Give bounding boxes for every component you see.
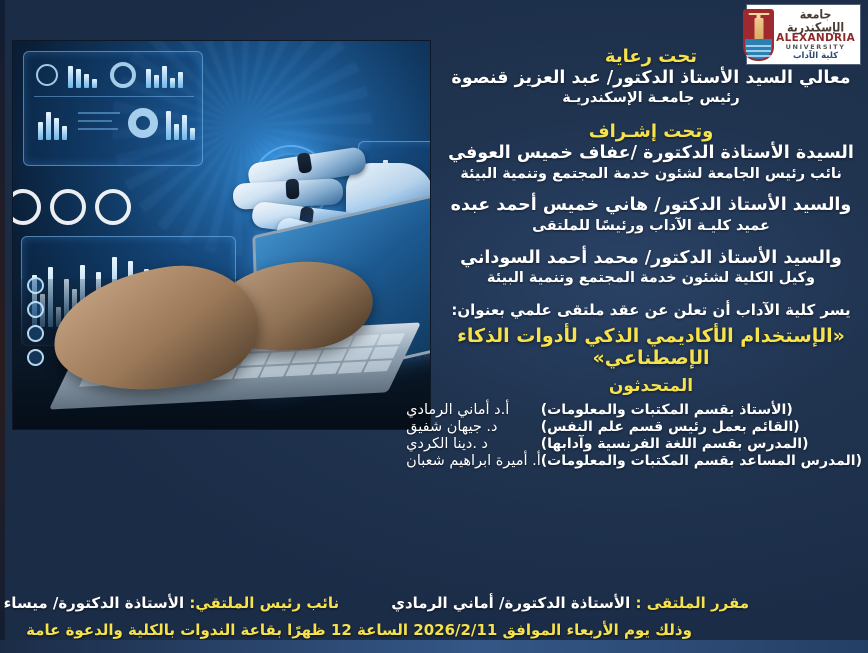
speaker-role: (المدرس بقسم اللغة الفرنسية وآدابها)	[541, 436, 862, 453]
left-edge-strip	[0, 0, 5, 653]
patronage-heading: تحت رعاية	[440, 46, 862, 67]
supervision-heading: وتحت إشـراف	[440, 121, 862, 142]
table-row: (المدرس المساعد بقسم المكتبات والمعلومات…	[406, 453, 862, 470]
supervisor-2-title: عميد كليـة الآداب ورئيسًا للملتقى	[440, 217, 862, 236]
supervisor-3-name: والسيد الأستاذ الدكتور/ محمد أحمد السودا…	[440, 247, 862, 269]
poster-background: جامعة الإسكندرية ALEXANDRIA UNIVERSITY ك…	[0, 0, 868, 653]
rapporteur-label: مقرر الملتقى :	[635, 594, 749, 612]
speakers-heading: المتحدثون	[440, 376, 862, 396]
hud-chip-column	[27, 277, 44, 366]
supervisor-1-name: السيدة الأستاذة الدكتورة /عفاف خميس العو…	[440, 142, 862, 164]
rapporteur-segment: مقرر الملتقى : الأستاذة الدكتورة/ أماني …	[391, 594, 749, 612]
deputy-value: الأستاذة الدكتورة/ ميساء محروس	[0, 594, 184, 612]
hud-panel-top-left	[23, 51, 203, 166]
table-row: (القائم بعمل رئيس قسم علم النفس) د. جيها…	[406, 419, 862, 436]
deputy-segment: نائب رئيس الملتقي: الأستاذة الدكتورة/ مي…	[0, 594, 339, 612]
speaker-role: (القائم بعمل رئيس قسم علم النفس)	[541, 419, 862, 436]
desk-laptop-scene	[13, 279, 430, 429]
announcement-intro: يسر كلية الآداب أن تعلن عن عقد ملتقى علم…	[440, 301, 862, 319]
supervisor-2-name: والسيد الأستاذ الدكتور/ هاني خميس أحمد ع…	[440, 194, 862, 216]
supervisor-1-title: نائب رئيس الجامعة لشئون خدمة المجتمع وتن…	[440, 165, 862, 184]
table-row: (المدرس بقسم اللغة الفرنسية وآدابها) د .…	[406, 436, 862, 453]
officers-line: مقرر الملتقى : الأستاذة الدكتورة/ أماني …	[0, 594, 868, 612]
poster-footer: مقرر الملتقى : الأستاذة الدكتورة/ أماني …	[0, 594, 868, 639]
patronage-title: رئيس جامعـة الإسكندريـة	[440, 89, 862, 108]
deputy-label: نائب رئيس الملتقي:	[189, 594, 339, 612]
rapporteur-value: الأستاذة الدكتورة/ أماني الرمادي	[391, 594, 630, 612]
supervisor-3-title: وكيل الكلية لشئون خدمة المجتمع وتنمية ال…	[440, 269, 862, 288]
event-date-line: وذلك يوم الأربعاء الموافق 2026/2/11 السا…	[0, 621, 868, 639]
speakers-table: (الأستاذ بقسم المكتبات والمعلومات) أ.د أ…	[406, 402, 862, 470]
supervision-block: وتحت إشـراف السيدة الأستاذة الدكتورة /عف…	[440, 121, 862, 288]
speaker-role: (الأستاذ بقسم المكتبات والمعلومات)	[541, 402, 862, 419]
logo-arabic-calligraphy: جامعة الإسكندرية	[776, 8, 855, 33]
speaker-name: أ. أميرة ابراهيم شعبان	[406, 453, 541, 470]
table-row: (الأستاذ بقسم المكتبات والمعلومات) أ.د أ…	[406, 402, 862, 419]
hero-photo	[12, 40, 431, 430]
announcement-block: يسر كلية الآداب أن تعلن عن عقد ملتقى علم…	[440, 301, 862, 369]
speaker-role: (المدرس المساعد بقسم المكتبات والمعلومات…	[541, 453, 862, 470]
event-title: «الإستخدام الأكاديمي الذكي لأدوات الذكاء…	[440, 325, 862, 369]
speaker-name: د .دينا الكردي	[406, 436, 541, 453]
hud-ring-group	[12, 189, 131, 225]
poster-text-column: تحت رعاية معالي السيد الأستاذ الدكتور/ ع…	[440, 46, 862, 637]
patronage-name: معالي السيد الأستاذ الدكتور/ عبد العزيز …	[440, 67, 862, 89]
speaker-name: أ.د أماني الرمادي	[406, 402, 541, 419]
patronage-block: تحت رعاية معالي السيد الأستاذ الدكتور/ ع…	[440, 46, 862, 108]
speaker-name: د. جيهان شفيق	[406, 419, 541, 436]
